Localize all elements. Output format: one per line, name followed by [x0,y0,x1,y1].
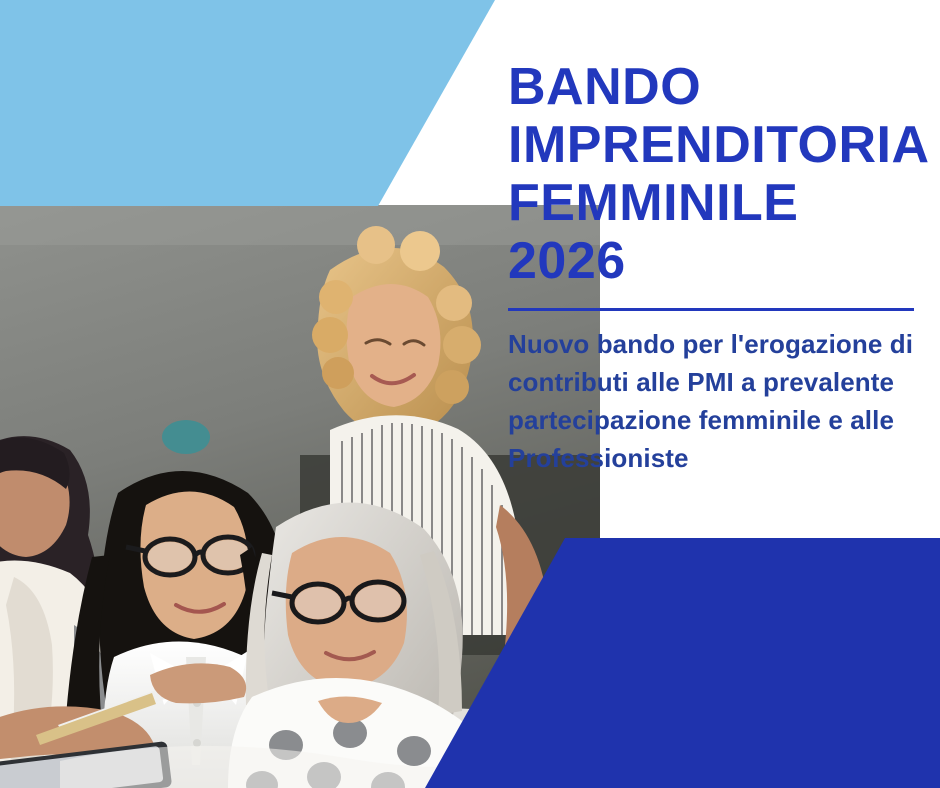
banner-subheadline: Nuovo bando per l'erogazione di contribu… [508,325,924,477]
banner-headline: BANDO IMPRENDITORIA FEMMINILE 2026 [508,58,924,290]
text-panel: BANDO IMPRENDITORIA FEMMINILE 2026 Nuovo… [508,58,924,477]
light-blue-accent-band [0,0,500,206]
headline-divider [508,308,914,311]
promo-banner: BANDO IMPRENDITORIA FEMMINILE 2026 Nuovo… [0,0,940,788]
